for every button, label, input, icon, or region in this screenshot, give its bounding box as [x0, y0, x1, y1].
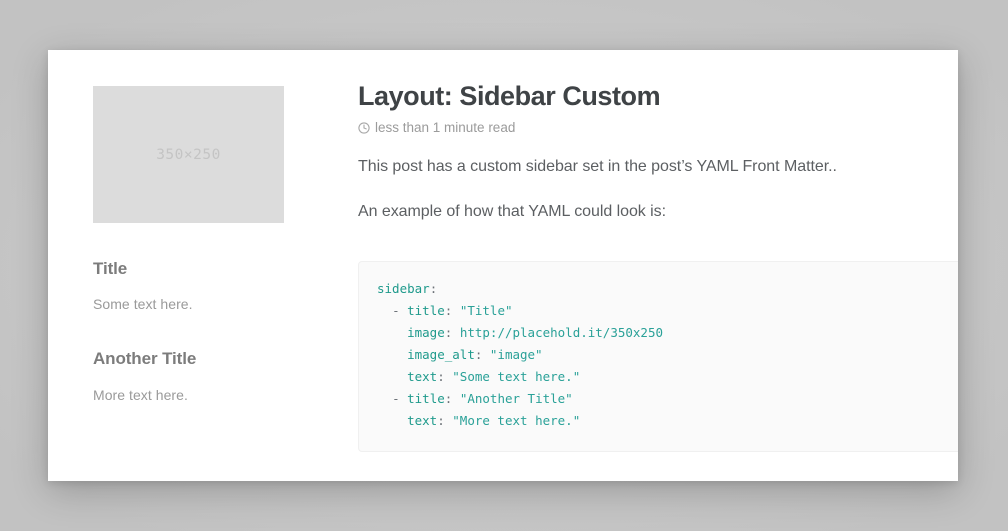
- sidebar-section-heading: Title: [93, 259, 127, 279]
- sidebar-section-text: Some text here.: [93, 296, 193, 312]
- sidebar-image-dimensions-label: 350×250: [93, 147, 284, 163]
- sidebar-image-placeholder: 350×250: [93, 86, 284, 223]
- page-title: Layout: Sidebar Custom: [358, 80, 958, 112]
- page-card: 350×250 Title Some text here. Another Ti…: [48, 50, 958, 481]
- post-sidebar: 350×250 Title Some text here. Another Ti…: [93, 86, 285, 223]
- sidebar-section-heading: Another Title: [93, 349, 196, 369]
- article-meta: less than 1 minute read: [358, 120, 958, 135]
- clock-icon: [358, 122, 370, 134]
- code-block[interactable]: sidebar: - title: "Title" image: http://…: [358, 261, 958, 452]
- post-article: Layout: Sidebar Custom less than 1 minut…: [358, 80, 958, 221]
- read-time-label: less than 1 minute read: [375, 120, 515, 135]
- article-paragraph: An example of how that YAML could look i…: [358, 203, 958, 221]
- post-layout: 350×250 Title Some text here. Another Ti…: [48, 50, 958, 481]
- article-paragraph: This post has a custom sidebar set in th…: [358, 158, 958, 176]
- sidebar-section-text: More text here.: [93, 387, 188, 403]
- code-content: sidebar: - title: "Title" image: http://…: [359, 262, 958, 432]
